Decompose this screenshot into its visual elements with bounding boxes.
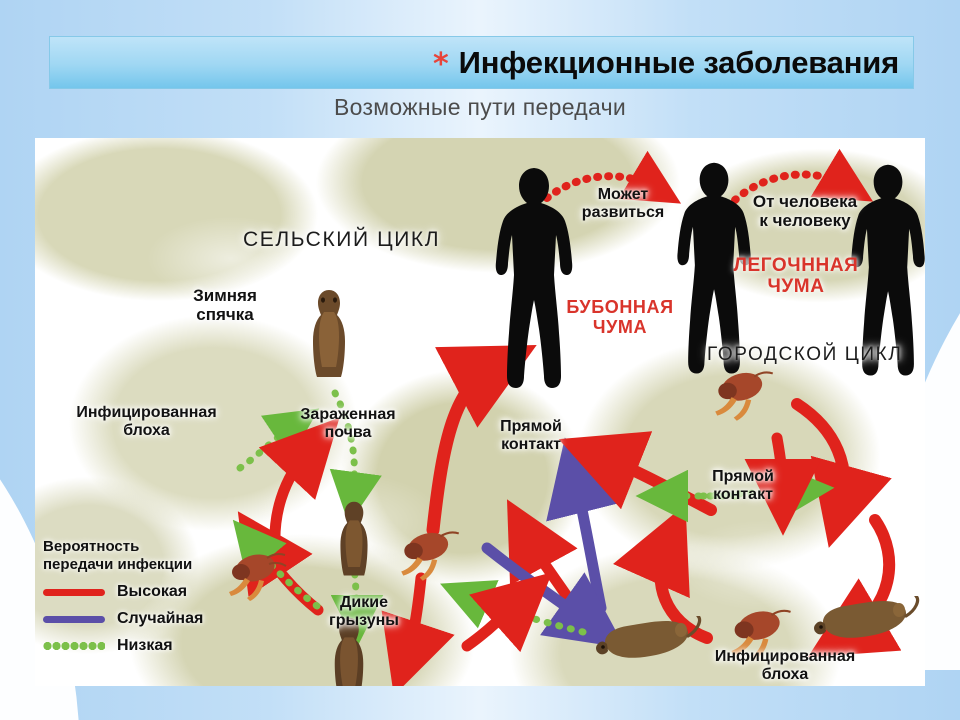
- plague-label-pneumonic: ЛЕГОЧННАЯ ЧУМА: [721, 256, 871, 298]
- arrow-rat-to-human-chance: [575, 478, 601, 608]
- legend-swatch-high: [43, 589, 105, 596]
- slide: * Инфекционные заболевания Возможные пут…: [0, 0, 960, 720]
- page-subtitle: Возможные пути передачи: [0, 94, 960, 121]
- label-contaminated-soil: Зараженная почва: [278, 406, 418, 442]
- label-direct-contact-center: Прямой контакт: [471, 418, 591, 454]
- label-human-to-human: От человека к человеку: [725, 192, 885, 230]
- legend-row-high: Высокая: [43, 583, 203, 601]
- cycle-label-rural: СЕЛЬСКИЙ ЦИКЛ: [243, 228, 440, 252]
- flea-left: [221, 548, 293, 607]
- label-wild-rodents: Дикие грызуны: [309, 594, 419, 630]
- transmission-diagram: СЕЛЬСКИЙ ЦИКЛ ГОРОДСКОЙ ЦИКЛ Зимняя спяч…: [35, 138, 925, 686]
- legend-label-chance: Случайная: [117, 610, 203, 628]
- legend: Вероятность передачи инфекции Высокая Сл…: [43, 538, 203, 655]
- plague-label-bubonic: БУБОННАЯ ЧУМА: [555, 298, 685, 338]
- cycle-label-urban: ГОРОДСКОЙ ЦИКЛ: [707, 344, 902, 366]
- asterisk-bullet-icon: *: [433, 50, 449, 80]
- label-may-develop: Может развиться: [563, 186, 683, 222]
- label-hibernation: Зимняя спячка: [165, 286, 285, 324]
- flea-urban-top: [707, 366, 781, 427]
- label-direct-contact-right: Прямой контакт: [683, 468, 803, 504]
- title-bar: * Инфекционные заболевания: [49, 36, 914, 89]
- legend-row-chance: Случайная: [43, 610, 203, 628]
- legend-swatch-chance: [43, 616, 105, 623]
- label-infected-flea-right: Инфицированная блоха: [685, 648, 885, 684]
- arrow-direct-contact-chance: [487, 548, 591, 624]
- legend-row-low: Низкая: [43, 637, 203, 655]
- arrow-rodents-right-high: [467, 600, 521, 646]
- flea-center: [393, 526, 467, 587]
- legend-title: Вероятность передачи инфекции: [43, 538, 203, 574]
- arrow-rat-left-low: [469, 596, 583, 632]
- marmot-soil: [337, 500, 371, 583]
- arrow-urbanflea-to-rat-high: [797, 404, 844, 504]
- page-title: Инфекционные заболевания: [459, 45, 899, 81]
- arrow-rat-to-flea-high: [527, 536, 575, 608]
- legend-swatch-low: [43, 642, 105, 650]
- marmot-top: [311, 288, 347, 385]
- legend-label-high: Высокая: [117, 583, 187, 601]
- label-infected-flea-left: Инфицированная блоха: [49, 404, 244, 440]
- legend-label-low: Низкая: [117, 637, 173, 655]
- arrow-flea-to-marmot-high: [275, 448, 311, 558]
